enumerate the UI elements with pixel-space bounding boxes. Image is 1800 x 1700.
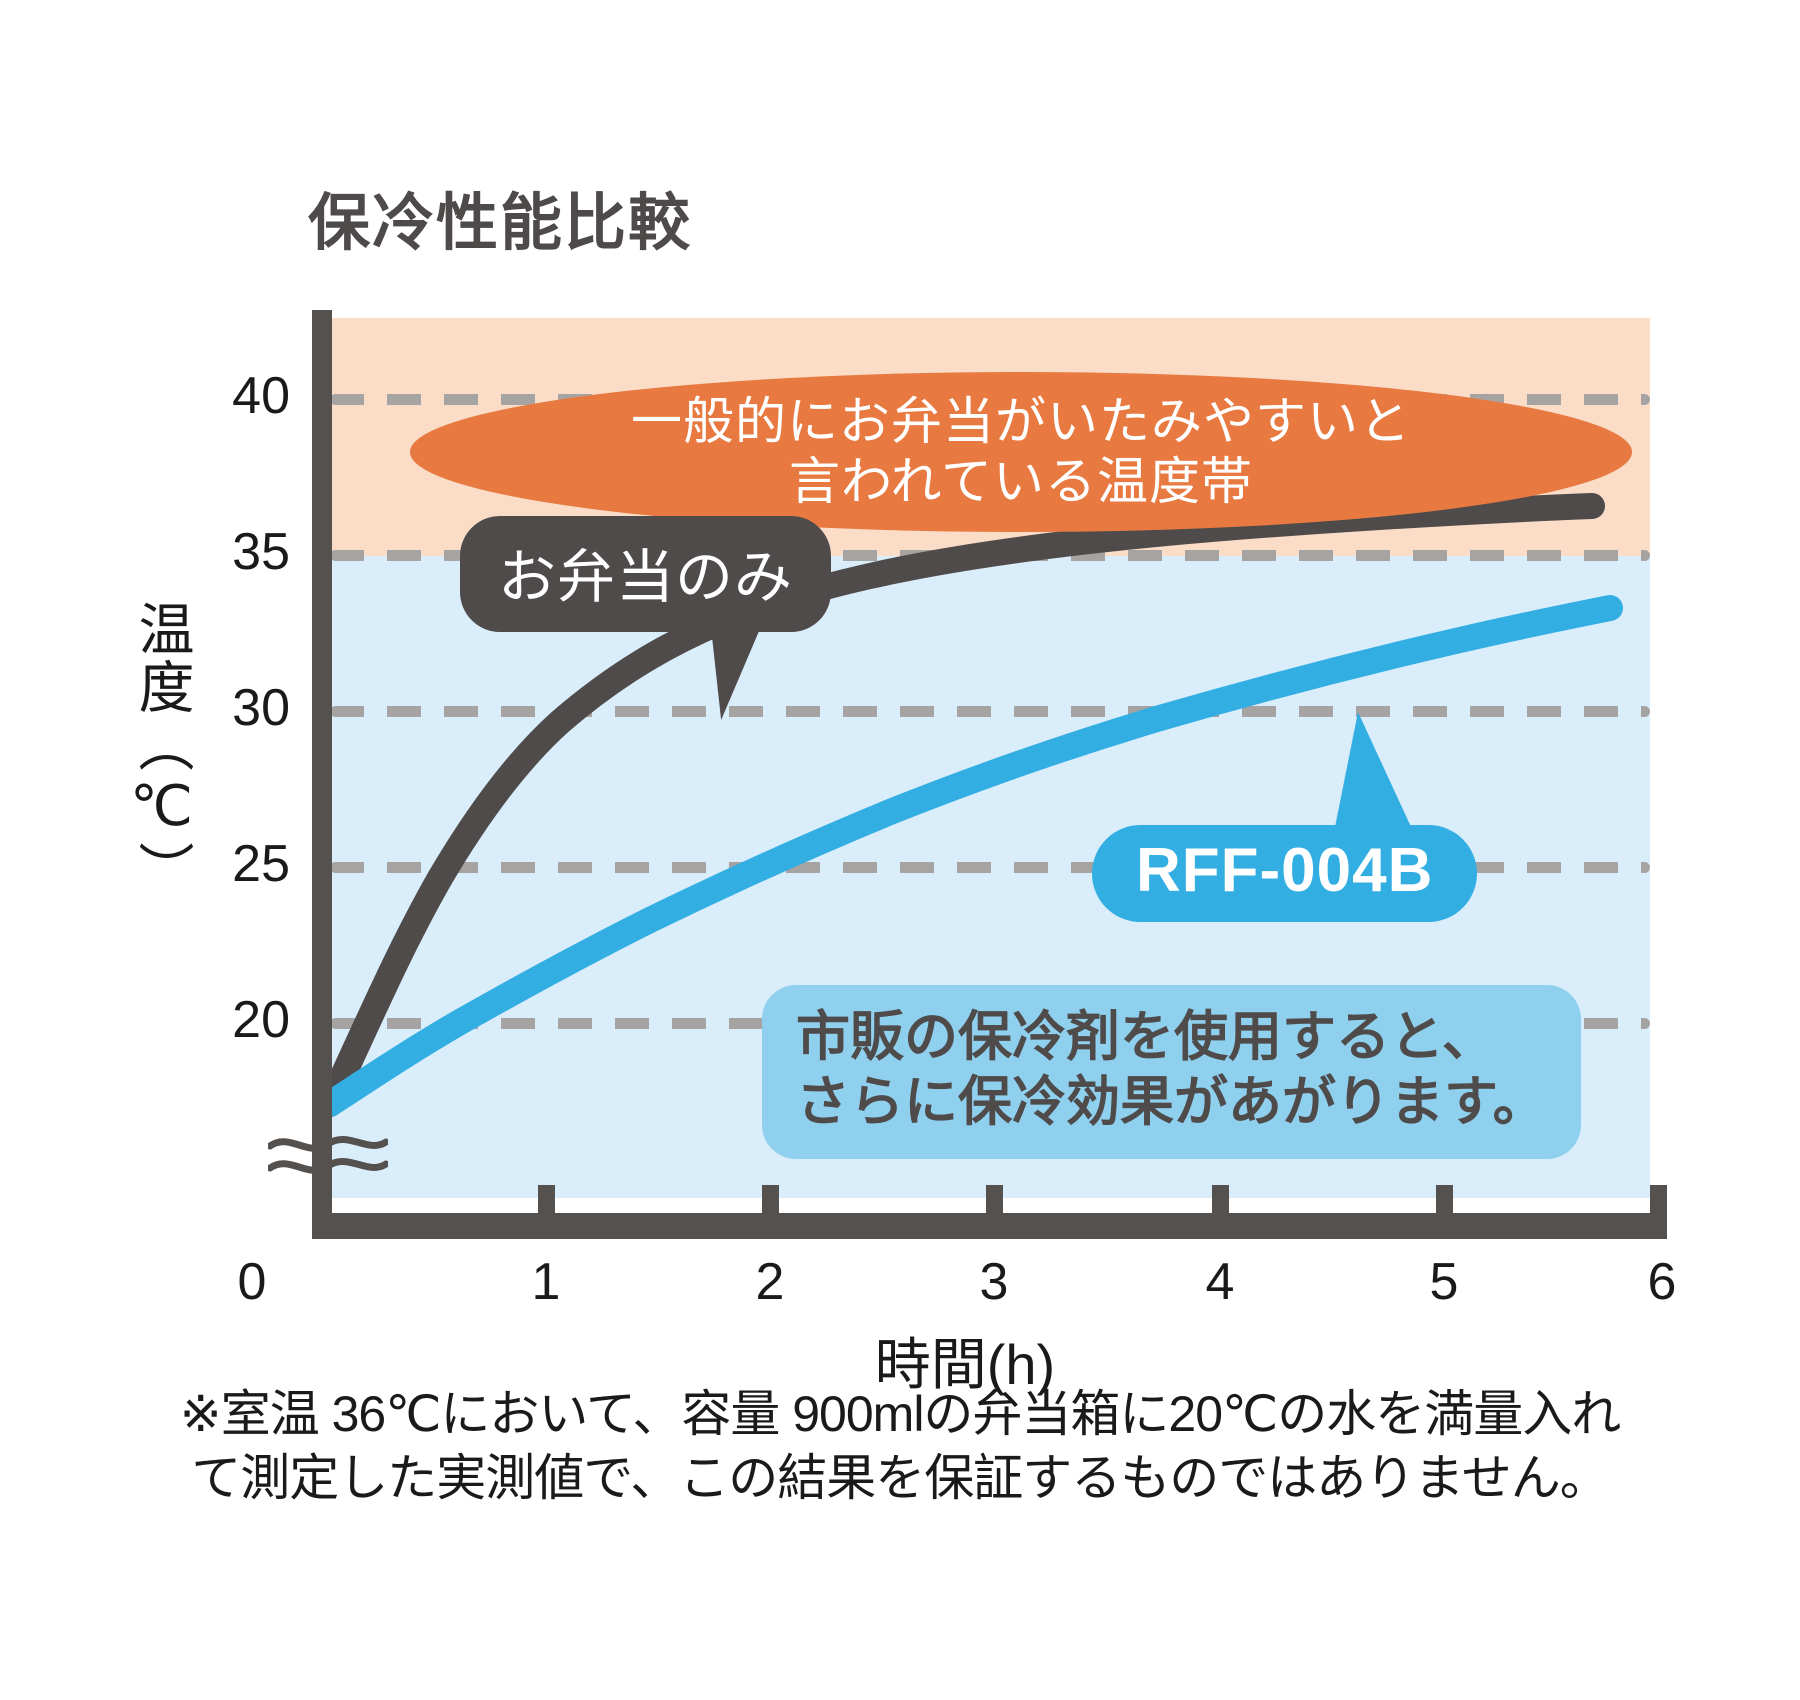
x-tick-1	[538, 1185, 555, 1215]
y-tick-label-25: 25	[180, 834, 290, 894]
x-tick-5	[1436, 1185, 1453, 1215]
coolant-note-line2: さらに保冷効果があがります。	[796, 1070, 1547, 1135]
rff-callout: RFF-004B	[1092, 825, 1477, 922]
hot-zone-annotation: 一般的にお弁当がいたみやすいと 言われている温度帯	[410, 372, 1632, 532]
x-tick-label-0: 0	[207, 1252, 297, 1312]
coolant-note-box: 市販の保冷剤を使用すると、 さらに保冷効果があがります。	[762, 985, 1581, 1159]
x-tick-6	[1650, 1185, 1667, 1215]
x-tick-label-5: 5	[1399, 1252, 1489, 1312]
y-axis-title: 温度（℃）	[112, 600, 190, 899]
x-tick-2	[762, 1185, 779, 1215]
y-tick-label-40: 40	[180, 366, 290, 426]
bento-callout: お弁当のみ	[460, 516, 831, 632]
hot-zone-line2: 言われている温度帯	[789, 452, 1253, 512]
footnote-line1: ※室温 36℃において、容量 900mlの弁当箱に20℃の水を満量入れ	[0, 1382, 1800, 1446]
x-tick-label-1: 1	[501, 1252, 591, 1312]
x-tick-0	[312, 1185, 329, 1215]
y-tick-label-20: 20	[180, 990, 290, 1050]
x-tick-label-2: 2	[725, 1252, 815, 1312]
x-tick-label-6: 6	[1617, 1252, 1707, 1312]
x-tick-label-4: 4	[1175, 1252, 1265, 1312]
y-axis	[312, 310, 332, 1228]
x-axis	[312, 1213, 1667, 1239]
x-tick-4	[1212, 1185, 1229, 1215]
footnote: ※室温 36℃において、容量 900mlの弁当箱に20℃の水を満量入れ て測定し…	[0, 1382, 1800, 1510]
rff-callout-tail-icon	[1332, 712, 1418, 842]
footnote-line2: て測定した実測値で、この結果を保証するものではありません。	[0, 1446, 1800, 1510]
page-title: 保冷性能比較	[308, 172, 692, 262]
x-tick-3	[986, 1185, 1003, 1215]
coolant-note-line1: 市販の保冷剤を使用すると、	[796, 1005, 1547, 1070]
y-tick-label-30: 30	[180, 678, 290, 738]
hot-zone-line1: 一般的にお弁当がいたみやすいと	[631, 392, 1411, 452]
y-tick-label-35: 35	[180, 522, 290, 582]
x-tick-label-3: 3	[949, 1252, 1039, 1312]
